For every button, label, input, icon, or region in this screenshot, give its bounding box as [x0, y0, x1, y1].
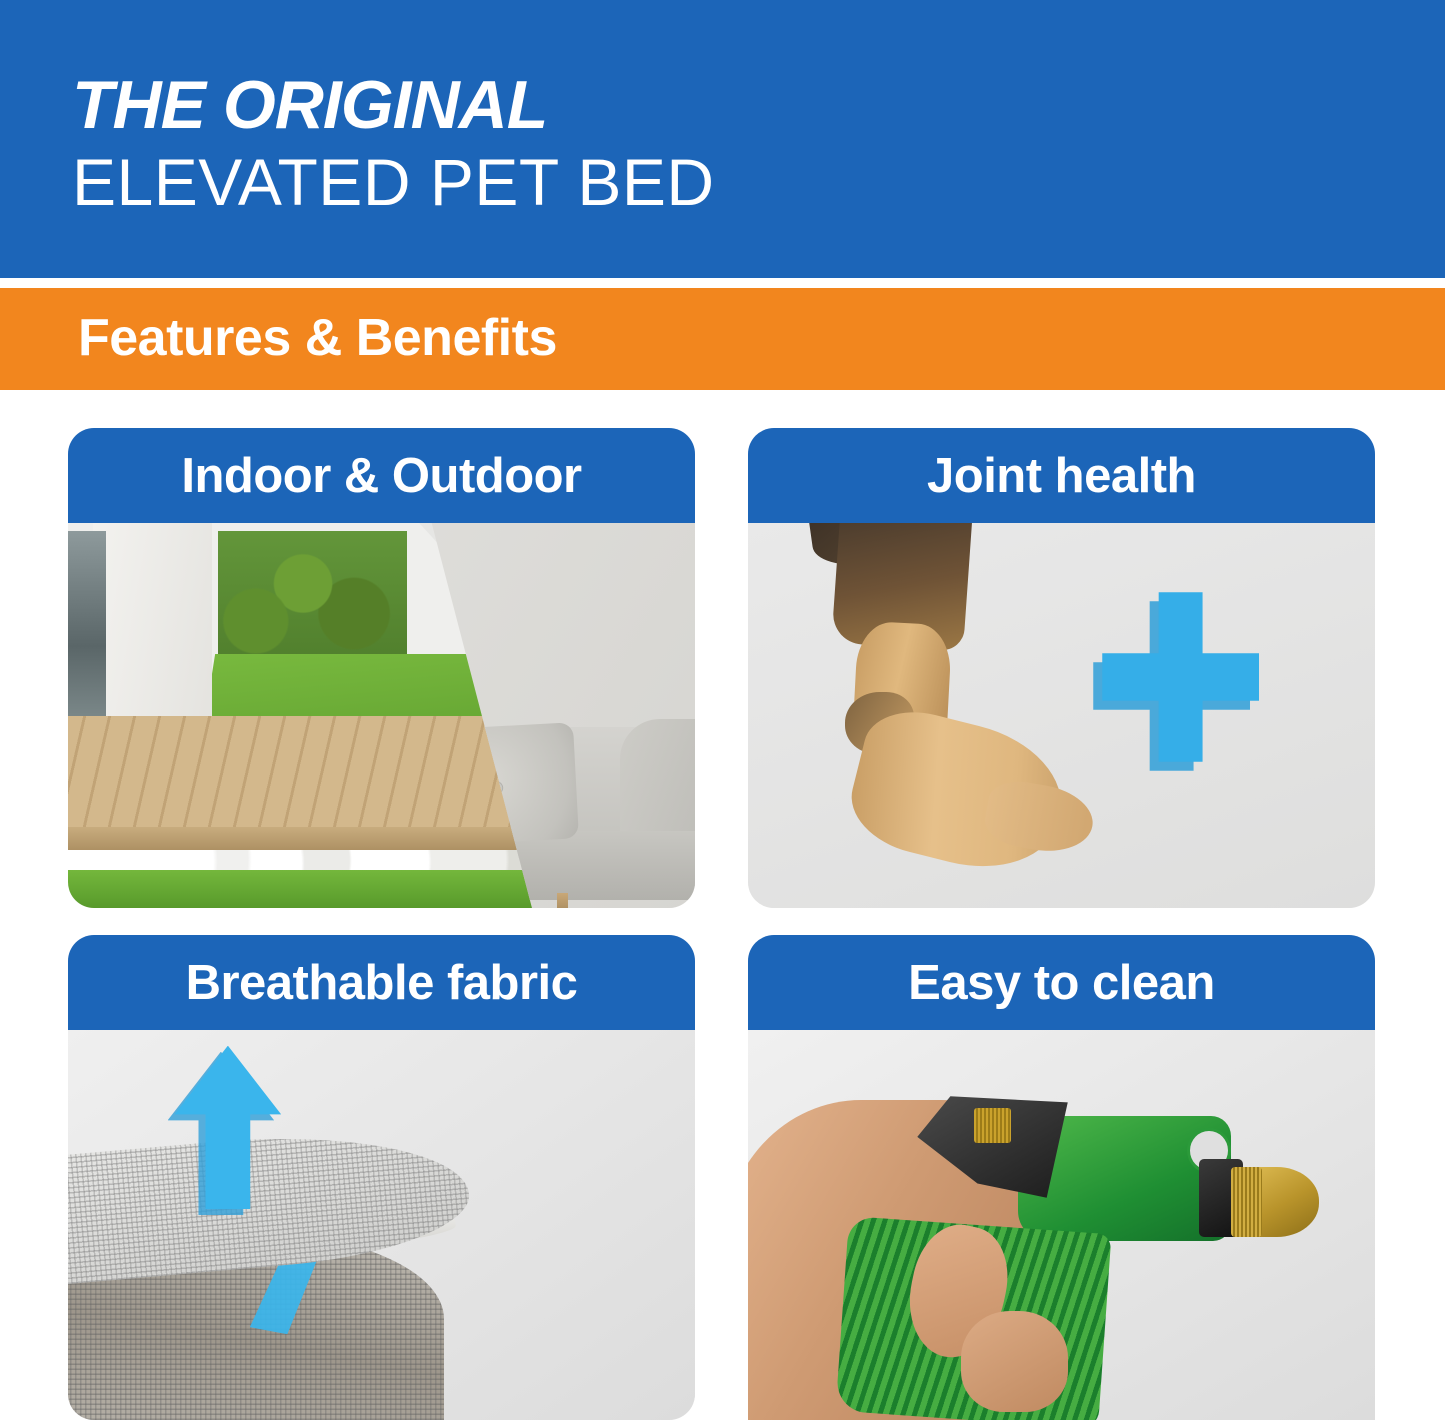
feature-card-header: Breathable fabric: [68, 935, 695, 1030]
feature-card-title: Joint health: [927, 448, 1196, 504]
medical-cross-front: [1102, 592, 1259, 761]
dog-paw-medical-cross-photo: [748, 523, 1375, 908]
glass-door-shape: [68, 531, 106, 724]
feature-card-indoor-outdoor: Indoor & Outdoor: [68, 428, 695, 908]
house-wall-shape: [93, 523, 212, 739]
mesh-fabric-airflow-photo: [68, 1030, 695, 1420]
feature-card-image-joint-health: [748, 523, 1375, 908]
finger-shape: [961, 1311, 1068, 1412]
hero-title-emphasis: THE ORIGINAL: [72, 68, 547, 142]
hose-nozzle-photo: [748, 1030, 1375, 1420]
feature-card-easy-to-clean: Easy to clean: [748, 935, 1375, 1420]
airflow-arrow-front: [175, 1046, 282, 1210]
feature-card-breathable-fabric: Breathable fabric: [68, 935, 695, 1420]
feature-card-title: Easy to clean: [908, 955, 1215, 1011]
feature-card-header: Easy to clean: [748, 935, 1375, 1030]
feature-card-image-easy-to-clean: [748, 1030, 1375, 1420]
hero-title-main: ELEVATED PET BED: [72, 146, 715, 218]
section-band: Features & Benefits: [0, 288, 1445, 390]
feature-card-header: Joint health: [748, 428, 1375, 523]
sofa-leg-shape: [557, 893, 568, 908]
airflow-arrow-up-icon: [175, 1046, 282, 1210]
feature-card-title: Breathable fabric: [186, 955, 578, 1011]
brass-screw-shape: [974, 1108, 1012, 1143]
feature-card-image-breathable-fabric: [68, 1030, 695, 1420]
brass-knurl-shape: [1231, 1167, 1262, 1237]
feature-card-joint-health: Joint health: [748, 428, 1375, 908]
medical-cross-icon: [1102, 592, 1259, 761]
feature-card-header: Indoor & Outdoor: [68, 428, 695, 523]
hero-banner: THE ORIGINAL ELEVATED PET BED: [0, 0, 1445, 278]
indoor-outdoor-split-photo: [68, 523, 695, 908]
section-band-title: Features & Benefits: [78, 304, 557, 372]
feature-card-title: Indoor & Outdoor: [181, 448, 581, 504]
feature-card-image-indoor-outdoor: [68, 523, 695, 908]
feature-card-grid: Indoor & Outdoor: [0, 428, 1445, 1411]
lawn-lower-shape: [68, 870, 557, 909]
